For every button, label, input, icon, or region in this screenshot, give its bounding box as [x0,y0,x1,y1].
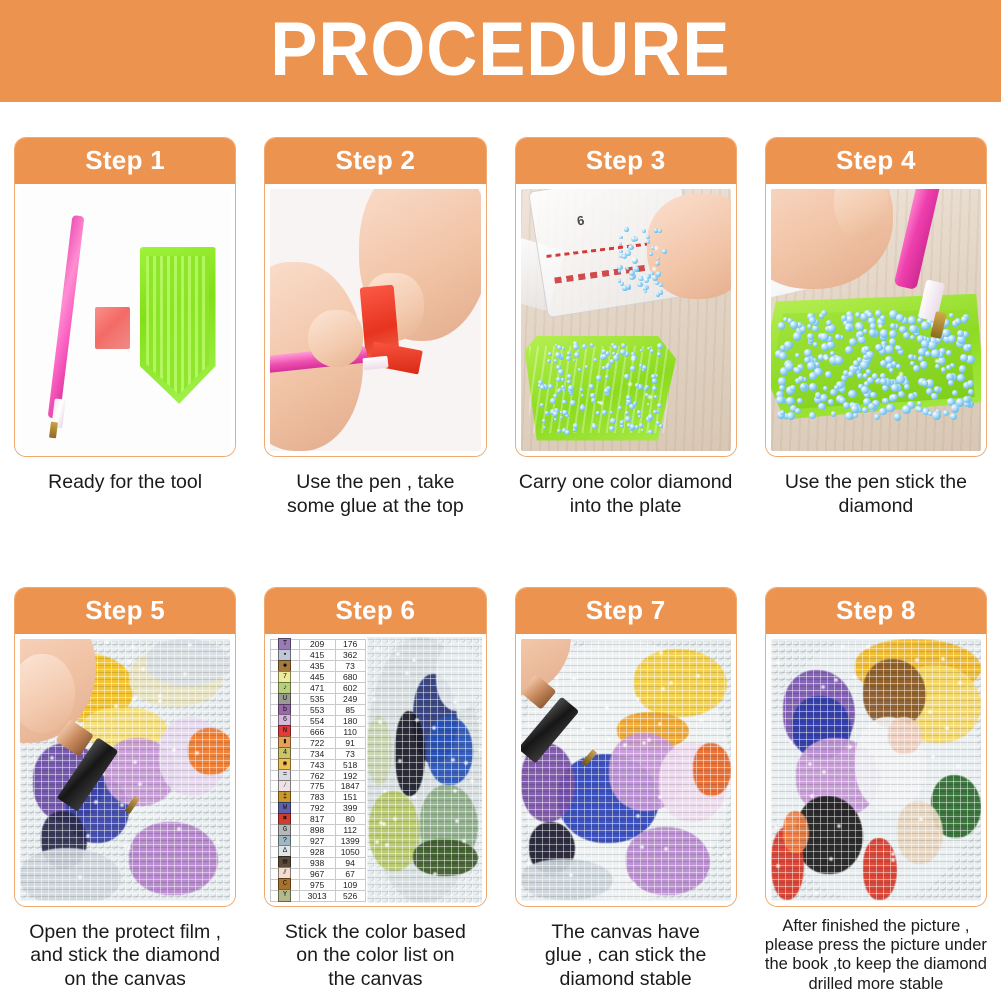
step-card-2: Step 2 Use the pen , takesome glue at th… [250,102,500,552]
color-code-cell: 535 [300,694,336,704]
diamond-bead [565,430,570,435]
diamond-bead [540,403,544,407]
steps-grid: Step 1 Ready for the tool Step 2 [0,102,1001,1001]
color-count-cell: 602 [336,683,366,693]
color-code-cell: 775 [300,781,336,791]
diamond-bead [605,365,609,369]
diamond-bead [819,313,824,318]
diamond-bead [619,250,623,254]
step-7-card: Step 7 [515,587,737,907]
sparkle [657,721,663,727]
diamond-bead [898,391,905,398]
color-code-cell: 743 [300,760,336,770]
diamond-bead [610,359,614,363]
diamond-bead [908,316,916,324]
diamond-bead [580,405,586,411]
diamond-bead [800,383,807,390]
step-3-badge: Step 3 [516,138,736,184]
sparkle [119,802,125,808]
step-4-caption: Use the pen stick thediamond [765,471,987,519]
color-count-cell: 151 [336,792,366,802]
step-5-image [15,634,235,906]
diamond-bead [645,385,649,389]
color-count-cell: 526 [336,891,366,901]
diamond-bead [908,393,915,400]
sparkle [137,781,143,787]
diamond-bead [652,378,657,383]
step-3-image: 6 [516,184,736,456]
diamond-bead [862,407,868,413]
sparkle [126,658,132,664]
color-code-cell: 817 [300,814,336,824]
diamond-bead [562,347,565,350]
sparkle [940,656,946,662]
sparkle [215,839,221,845]
diamond-bead [935,364,940,369]
sparkle [828,856,834,862]
diamond-bead [880,360,887,367]
diamond-bead [554,418,557,421]
diamond-bead [543,426,546,429]
sparkle [452,699,458,705]
diamond-bead [628,245,633,250]
diamond-bead [875,344,882,351]
diamond-bead [596,375,602,381]
diamond-bead [657,257,660,260]
sparkle [957,680,963,686]
sparkle [865,644,871,650]
pen-tip [362,355,388,369]
sparkle [93,799,99,805]
color-code-cell: 445 [300,672,336,682]
diamond-bead [626,251,631,256]
diamond-bead [960,354,968,362]
step-2-caption: Use the pen , takesome glue at the top [264,471,486,519]
page-banner: PROCEDURE [0,0,1001,102]
color-code-cell: 792 [300,803,336,813]
diamond-bead [561,378,564,381]
diamond-bead [605,375,609,379]
sparkle [657,794,663,800]
diamond-bead [891,384,899,392]
sparkle [630,356,636,362]
diamond-bead [654,228,659,233]
sparkle [477,747,483,753]
diamond-bead [780,345,786,351]
diamond-bead [851,405,859,413]
diamond-bead [573,344,579,350]
color-count-cell: 176 [336,640,366,650]
sparkle [176,826,182,832]
color-count-cell: 94 [336,858,366,868]
diamond-bead [640,349,643,352]
finished-picture-photo [771,639,981,901]
diamond-bead [619,236,622,239]
sparkle [833,677,839,683]
diamond-bead [602,366,606,370]
glue-clay-square [95,307,131,349]
diamond-bead [557,389,561,393]
sparkle [113,703,119,709]
color-chart-table: T209176▪415362◆435737445680♪471602U53524… [268,637,367,903]
diamond-bead [779,352,787,360]
diamond-bead [594,358,598,362]
diamond-bead [942,329,950,337]
color-code-cell: 3013 [300,891,336,901]
diamond-bead [652,275,658,281]
diamond-bead [880,329,889,338]
diamond-bead [573,359,576,362]
diamond-bead [948,380,954,386]
color-count-cell: 192 [336,771,366,781]
blue-diamonds [771,189,981,451]
color-code-cell: 666 [300,727,336,737]
sparkle [698,717,704,723]
step-8-caption: After finished the picture ,please press… [765,917,987,995]
color-count-cell: 112 [336,825,366,835]
sparkle [653,245,659,251]
diamond-bead [637,282,642,287]
sparkle [639,844,645,850]
step-6-image: T209176▪415362◆435737445680♪471602U53524… [265,634,485,906]
diamond-bead [823,386,828,391]
step-card-4: Step 4 Use the pe [751,102,1001,552]
step-card-1: Step 1 Ready for the tool [0,102,250,552]
diamond-bead [624,227,628,231]
color-code-cell: 898 [300,825,336,835]
diamond-bead [558,369,564,375]
diamond-bead [885,345,894,354]
diamond-bead [946,365,951,370]
diamond-bead [787,412,795,420]
diamond-bead [967,344,972,349]
diamond-bead [809,412,816,419]
sparkle [658,650,664,656]
diamond-bead [849,338,857,346]
sparkle [660,686,666,692]
diamond-bead [646,235,650,239]
step-8-badge: Step 8 [766,588,986,634]
sparkle [877,323,883,329]
diamond-bead [657,343,663,349]
color-count-cell: 1399 [336,836,366,846]
diamond-bead [928,341,937,350]
diamond-bead [903,332,910,339]
diamond-bead [592,424,597,429]
pen-tip-metal [49,422,58,438]
diamond-bead [582,344,587,349]
diamond-bead [874,414,880,420]
color-code-cell: 554 [300,716,336,726]
diamond-bead [917,407,922,412]
diamond-bead [866,351,874,359]
diamond-bead [959,365,966,372]
diamond-bead [562,400,567,405]
color-code-cell: 415 [300,650,336,660]
diamond-bead [568,385,574,391]
sparkle [411,657,417,663]
sparkle [813,890,819,896]
sparkle [604,705,610,711]
sparkle [635,696,641,702]
diamond-bead [626,267,629,270]
sparkle [775,660,781,666]
color-code-cell: 435 [300,661,336,671]
diamond-bead [955,318,962,325]
diamond-bead [635,425,639,429]
diamond-bead [659,424,663,428]
diamond-bead [870,392,876,398]
diamond-bead [625,411,630,416]
diamond-bead [589,384,594,389]
diamond-bead [961,316,968,323]
diamond-bead [853,360,859,366]
diamond-bead [610,411,613,414]
diamond-bead [966,355,975,364]
diamond-bead [904,384,910,390]
diamond-bead [648,430,653,435]
diamond-bead [602,349,606,353]
diamond-bead [651,374,656,379]
diamond-bead [835,334,841,340]
diamond-bead [776,396,784,404]
sparkle [627,381,633,387]
step-3-card: Step 3 6 [515,137,737,457]
step-4-image [766,184,986,456]
color-count-cell: 1050 [336,847,366,857]
sparkle [651,266,657,272]
step-1-badge: Step 1 [15,138,235,184]
diamond-bead [957,330,964,337]
diamond-bead [557,345,562,350]
diamond-bead [585,365,589,369]
diamond-bead [620,420,624,424]
step-2-badge: Step 2 [265,138,485,184]
diamond-bead [578,368,581,371]
color-code-cell: 967 [300,869,336,879]
bead-grid-overlay [367,637,483,903]
diamond-bead [566,356,571,361]
diamond-bead [621,343,626,348]
diamond-bead [858,331,864,337]
diamond-bead [952,390,958,396]
color-count-cell: 109 [336,880,366,890]
color-count-cell: 67 [336,869,366,879]
sparkle [773,824,779,830]
diamond-bead [932,411,941,420]
diamond-bead [943,410,949,416]
diamond-bead [778,322,786,330]
diamond-bead [602,410,607,415]
diamond-bead [848,390,857,399]
step-6-card: Step 6 T209176▪415362◆435737445680♪47160… [264,587,486,907]
color-code-cell: 734 [300,749,336,759]
pick-diamond-photo [771,189,981,451]
diamond-bead [560,416,563,419]
diamond-bead [654,395,658,399]
diamond-bead [652,386,657,391]
diamond-bead [902,405,910,413]
diamond-bead [618,269,622,273]
diamond-bead [613,355,619,361]
diamond-bead [951,404,960,413]
diamond-bead [540,385,545,390]
step-6-badge: Step 6 [265,588,485,634]
table-row: Y3013526 [270,891,366,902]
sparkle [171,747,177,753]
mosaic-canvas [771,639,981,901]
diamond-bead [567,380,571,384]
color-symbol-cell: Y [270,891,299,901]
diamond-bead [957,374,965,382]
diamond-bead [545,411,549,415]
color-code-cell: 722 [300,738,336,748]
diamond-bead [815,392,822,399]
procedure-infographic: PROCEDURE Step 1 Ready for the to [0,0,1001,1001]
diamond-bead [574,352,580,358]
step-7-image [516,634,736,906]
diamond-bead [896,364,901,369]
sparkle [809,793,815,799]
diamond-bead [813,342,818,347]
color-count-cell: 399 [336,803,366,813]
diamond-bead [886,404,895,413]
color-code-cell: 927 [300,836,336,846]
color-code-cell: 783 [300,792,336,802]
color-count-cell: 180 [336,716,366,726]
diamond-bead [647,403,650,406]
diamond-bead [931,393,939,401]
diamond-bead [795,408,801,414]
step-card-7: Step 7 The canvas haveglue , can stick t… [501,552,751,1001]
sparkle [392,816,398,822]
diamond-bead [889,330,897,338]
tools-photo [20,189,230,451]
diamond-bead [790,385,795,390]
diamond-bead [786,397,794,405]
diamond-bead [779,385,785,391]
step-1-card: Step 1 [14,137,236,457]
diamond-bead [610,418,616,424]
diamond-bead [650,349,654,353]
diamond-bead [835,356,843,364]
diamond-bead [820,333,829,342]
diamond-bead [655,261,660,266]
diamond-bead [625,416,630,421]
diamond-bead [848,371,854,377]
sparkle [194,750,200,756]
sparkle [450,757,456,763]
diamond-bead [547,359,551,363]
step-4-badge: Step 4 [766,138,986,184]
blue-diamonds [521,189,731,451]
sparkle [890,857,896,863]
diamond-bead [542,419,546,423]
page-title: PROCEDURE [270,12,730,88]
left-thumb [308,310,363,368]
sparkle [182,671,188,677]
diamond-bead [624,374,629,379]
sparkle [463,760,469,766]
color-count-cell: 362 [336,650,366,660]
diamond-bead [554,359,558,363]
step-1-caption: Ready for the tool [14,471,236,495]
color-code-cell: 471 [300,683,336,693]
diamond-bead [604,388,610,394]
diamond-bead [641,429,644,432]
diamond-bead [630,366,636,372]
step-1-image [15,184,235,456]
color-code-cell: 553 [300,705,336,715]
sparkle [104,639,110,645]
diamond-bead [633,402,637,406]
diamond-bead [795,353,800,358]
color-count-cell: 73 [336,749,366,759]
diamond-bead [662,249,667,254]
diamond-bead [896,314,904,322]
diamond-bead [659,283,663,287]
sparkle [788,739,794,745]
step-card-5: Step 5 Open the protect film ,and stick … [0,552,250,1001]
diamond-bead [602,354,607,359]
color-code-cell: 938 [300,858,336,868]
sparkle [381,821,387,827]
diamond-bead [596,411,599,414]
diamond-bead [804,349,811,356]
diamond-bead [657,352,662,357]
diamond-bead [650,272,654,276]
diamond-bead [866,369,872,375]
color-count-cell: 110 [336,727,366,737]
diamond-bead [657,403,662,408]
diamond-bead [868,403,875,410]
sparkle [821,769,827,775]
glue-dipping-photo [270,189,480,451]
diamond-bead [899,326,907,334]
color-swatch: Y [278,889,291,902]
color-code-cell: 762 [300,771,336,781]
color-code-cell: 209 [300,640,336,650]
diamond-bead [946,350,952,356]
sparkle [77,874,83,880]
diamond-bead [861,386,869,394]
diamond-bead [635,383,639,387]
diamond-bead [891,394,898,401]
diamond-bead [638,415,642,419]
diamond-bead [845,346,853,354]
diamond-bead [658,290,662,294]
diamond-bead [591,398,597,404]
diamond-bead [642,229,646,233]
diamond-bead [550,398,556,404]
diamond-bead [853,413,858,418]
step-2-image [265,184,485,456]
diamond-bead [812,325,819,332]
diamond-bead [860,361,869,370]
diamond-bead [653,410,657,414]
diamond-bead [548,352,552,356]
color-count-cell: 85 [336,705,366,715]
diamond-bead [794,367,801,374]
diamond-bead [843,402,850,409]
step-6-caption: Stick the color basedon the color list o… [264,921,486,992]
step-card-6: Step 6 T209176▪415362◆435737445680♪47160… [250,552,500,1001]
diamond-bead [910,335,915,340]
diamond-bead [658,229,662,233]
diamond-bead [573,423,578,428]
sparkle [395,651,401,657]
pink-pen-icon [48,215,84,419]
